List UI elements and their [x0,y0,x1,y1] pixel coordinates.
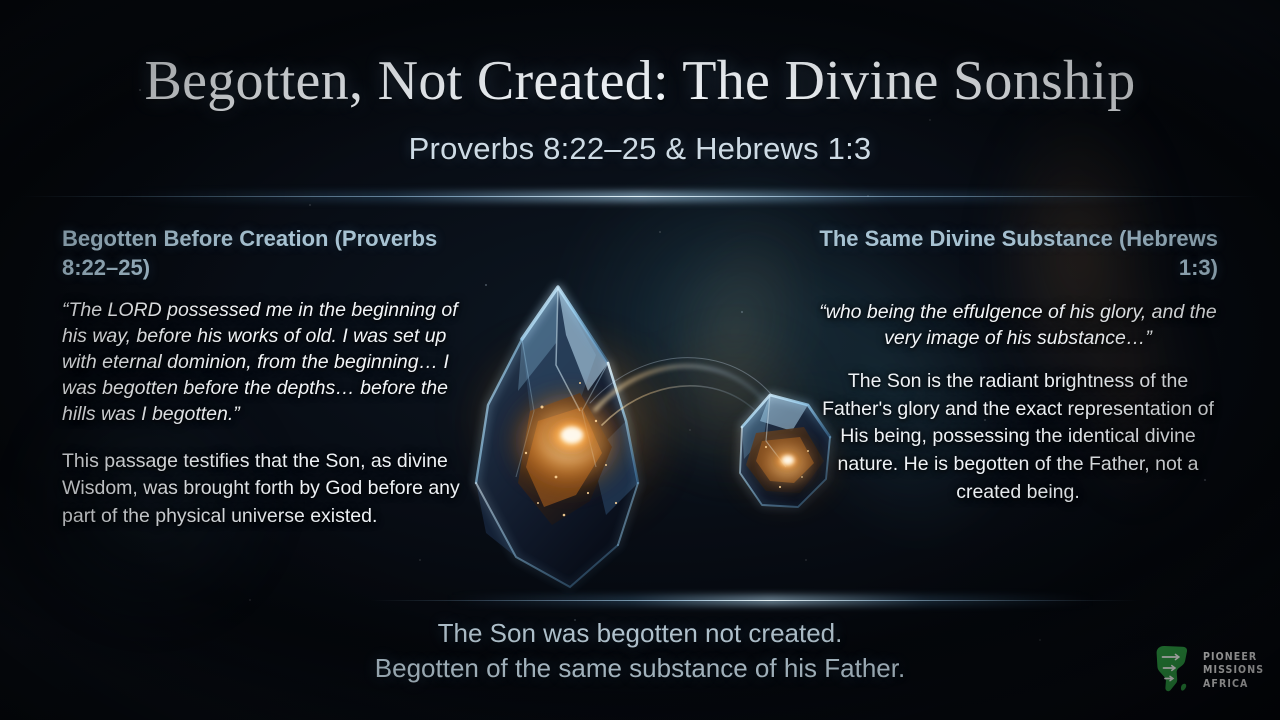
slide-canvas: Begotten, Not Created: The Divine Sonshi… [0,0,1280,720]
vignette-overlay [0,0,1280,720]
